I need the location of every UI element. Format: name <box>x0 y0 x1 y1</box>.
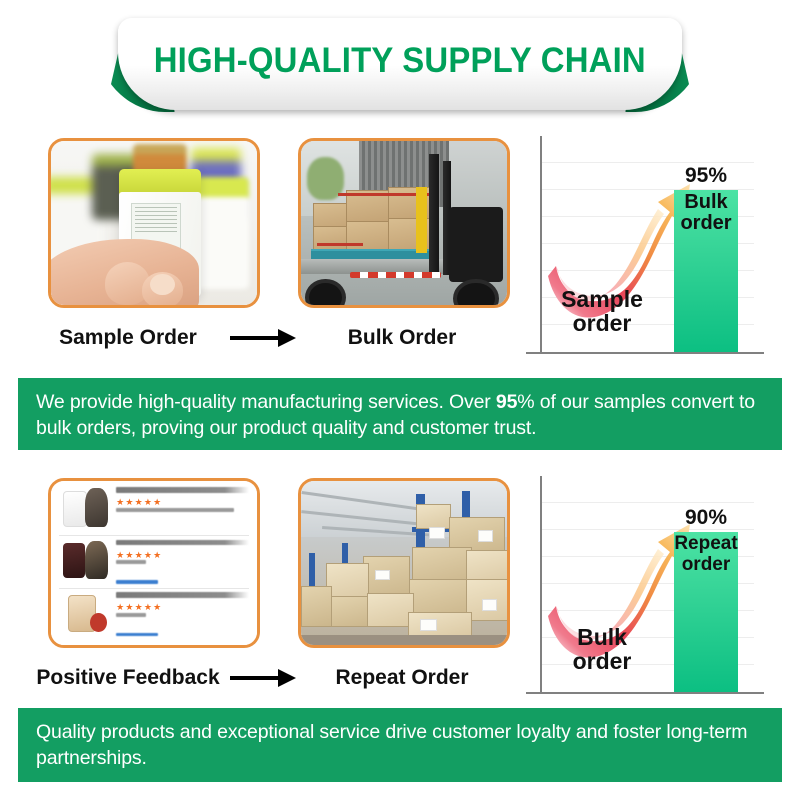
carton-label <box>375 570 389 580</box>
forklift-body <box>449 207 503 282</box>
review-title <box>116 540 249 545</box>
pills-scene <box>51 141 257 305</box>
review-thumbnail <box>59 592 108 633</box>
carton <box>346 221 393 253</box>
chart-bulk-to-repeat: 90% Repeat order Bulk order <box>518 476 776 704</box>
review-stars: ★★★★★ <box>116 550 162 561</box>
review-reply-link[interactable] <box>116 633 158 637</box>
fingernail <box>150 274 175 295</box>
banner-conversion-statement: We provide high-quality manufacturing se… <box>18 378 782 450</box>
row-feedback-to-repeat: ★★★★★ ★★★★★ <box>0 472 800 710</box>
banner-loyalty-statement: Quality products and exceptional service… <box>18 708 782 782</box>
ribbon-plate: HIGH-QUALITY SUPPLY CHAIN <box>118 18 682 110</box>
chart-bar-label-line1: Bulk <box>670 192 742 212</box>
product-bottle <box>63 491 87 528</box>
photo-forklift-loading <box>298 138 510 308</box>
caption-positive-feedback: Positive Feedback <box>30 666 226 690</box>
review-title <box>116 592 249 597</box>
review-stars: ★★★★★ <box>116 602 162 613</box>
model-photo <box>85 488 108 527</box>
right-arrow-icon <box>226 325 304 351</box>
review-comment <box>116 560 146 564</box>
red-strap <box>317 243 362 246</box>
caption-sample-order: Sample Order <box>30 326 226 350</box>
chart-bar-percent: 95% <box>670 164 742 188</box>
review-item: ★★★★★ <box>59 589 249 638</box>
carton <box>367 593 414 628</box>
carton-label <box>478 530 492 542</box>
product-bottle <box>63 543 85 578</box>
photo-warehouse-cartons <box>298 478 510 648</box>
forklift-scene <box>301 141 507 305</box>
row-sample-to-bulk: Sample Order Bulk Order <box>0 132 800 370</box>
caption-bulk-order: Bulk Order <box>304 326 500 350</box>
carton-label <box>429 527 445 539</box>
chart-start-label-line1: Bulk <box>542 626 662 649</box>
model-photo <box>85 541 108 580</box>
review-thumbnail <box>59 540 108 581</box>
truck-wheel <box>305 279 346 305</box>
carton <box>301 586 332 627</box>
carton-label <box>482 599 496 611</box>
rack-post <box>309 553 315 589</box>
caption-row-2: Positive Feedback Repeat Order <box>30 658 500 698</box>
review-title <box>116 487 249 492</box>
forklift-mast <box>429 154 439 275</box>
safety-rail <box>350 272 441 278</box>
banner1-highlight: 95 <box>496 391 517 413</box>
right-arrow-icon <box>226 665 304 691</box>
chart-start-label-line2: order <box>542 312 662 335</box>
carton <box>408 612 472 637</box>
chart-sample-to-bulk: 95% Bulk order Sample order <box>518 136 776 364</box>
header-banner: HIGH-QUALITY SUPPLY CHAIN <box>0 8 800 112</box>
carton <box>416 504 451 529</box>
cherry-graphic <box>90 613 107 632</box>
chart-bar-percent: 90% <box>670 506 742 530</box>
review-comment <box>116 508 234 512</box>
chart-start-label-line2: order <box>542 650 662 673</box>
review-thumbnail <box>59 487 108 528</box>
review-comment <box>116 613 146 617</box>
caption-row-1: Sample Order Bulk Order <box>30 318 500 358</box>
forklift-wheel <box>453 279 498 305</box>
reviews-scene: ★★★★★ ★★★★★ <box>51 481 257 645</box>
review-stars: ★★★★★ <box>116 497 162 508</box>
banner1-text-before: We provide high-quality manufacturing se… <box>36 391 496 413</box>
chart-start-label-line1: Sample <box>542 288 662 311</box>
photo-customer-reviews: ★★★★★ ★★★★★ <box>48 478 260 648</box>
photo-supplement-bottles <box>48 138 260 308</box>
page-title: HIGH-QUALITY SUPPLY CHAIN <box>154 41 646 81</box>
warehouse-floor <box>301 635 507 645</box>
forklift-yellow-post <box>416 187 426 253</box>
review-item: ★★★★★ <box>59 537 249 586</box>
chart-bar-label-line2: order <box>668 555 744 574</box>
chart-bar-label-line1: Repeat <box>670 534 742 553</box>
review-reply-link[interactable] <box>116 580 158 584</box>
warehouse-scene <box>301 481 507 645</box>
carton-label <box>420 619 436 631</box>
review-item: ★★★★★ <box>59 484 249 533</box>
chart-bar-label-line2: order <box>668 213 744 233</box>
caption-repeat-order: Repeat Order <box>304 666 500 690</box>
